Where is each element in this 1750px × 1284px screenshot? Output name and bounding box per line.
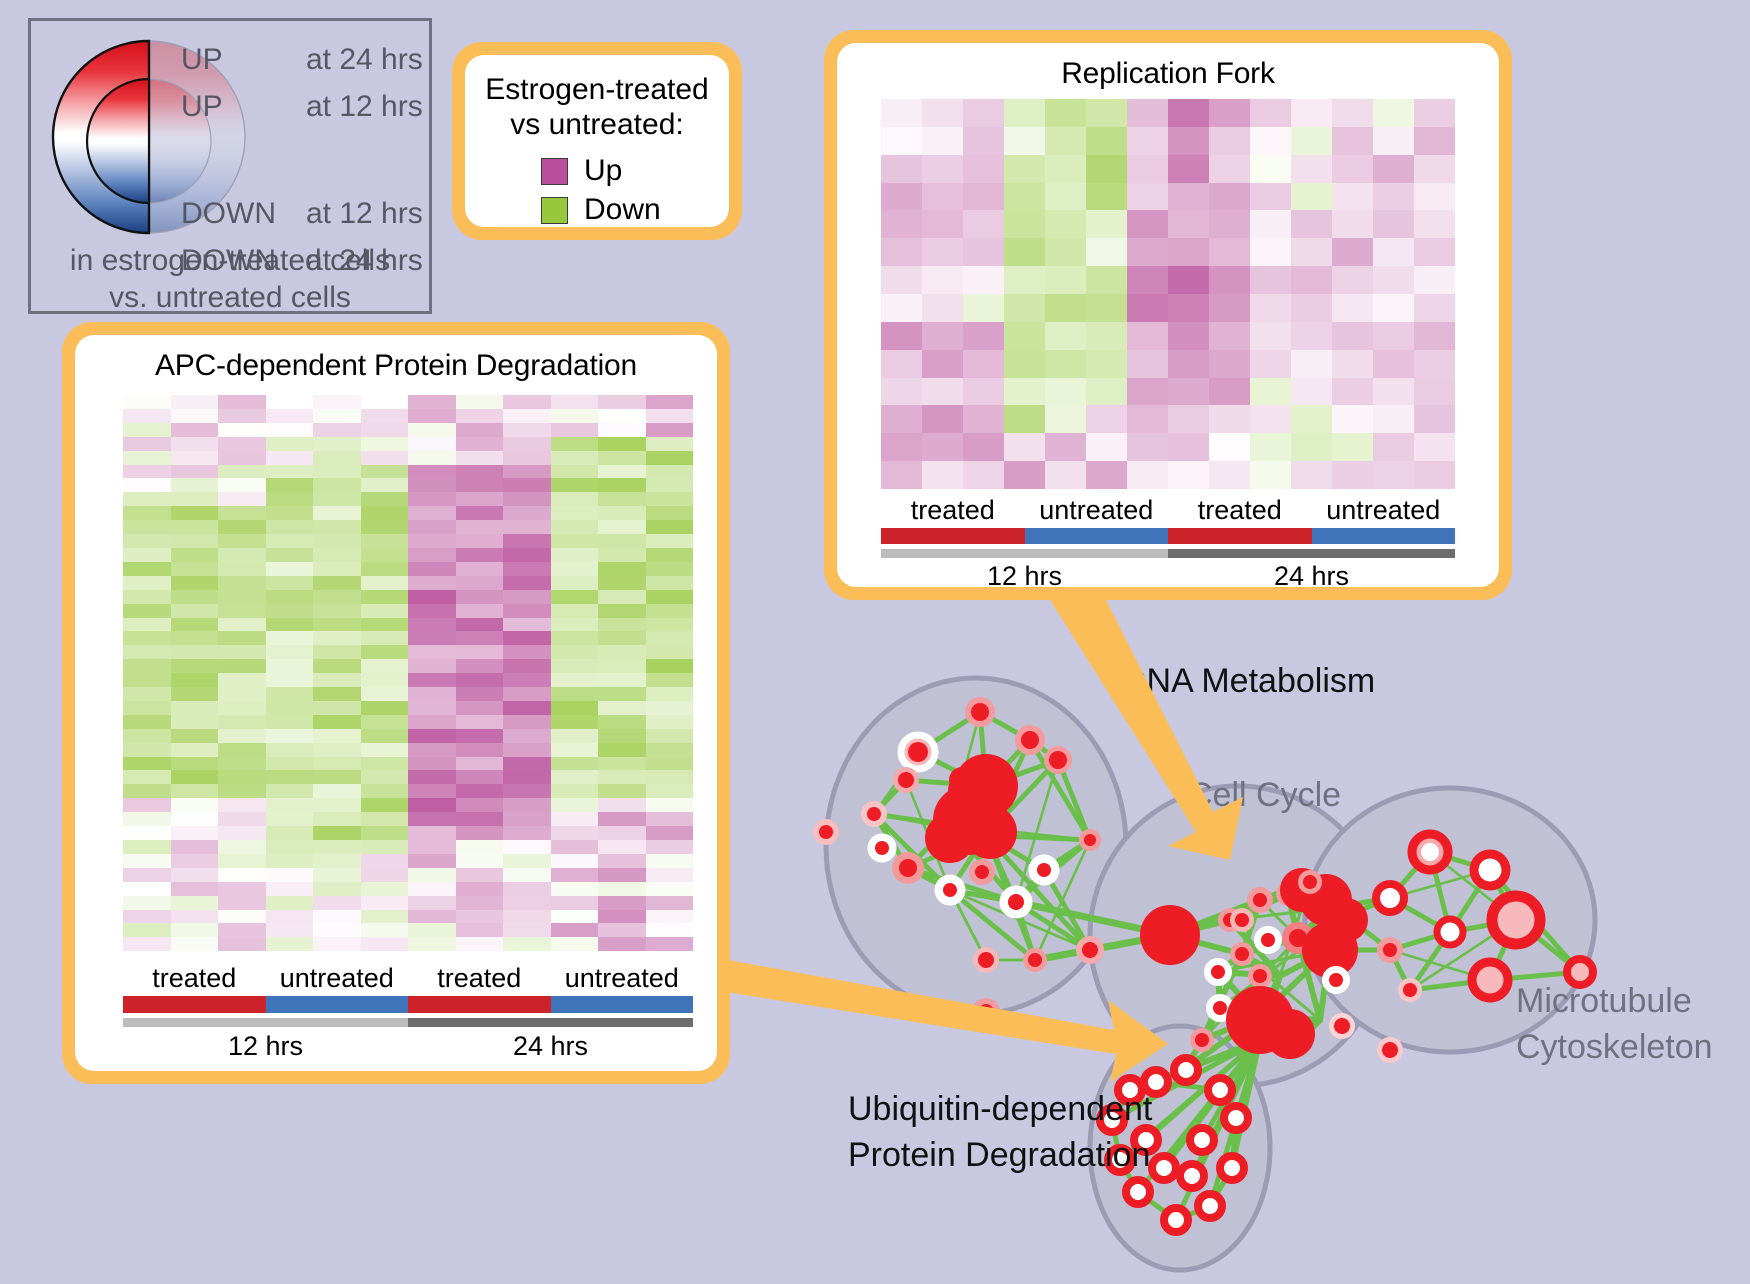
heatmap-cell (266, 520, 314, 534)
heatmap-cell (456, 631, 504, 645)
heatmap-cell (456, 896, 504, 910)
heatmap-cell (1045, 405, 1086, 433)
network-node (875, 841, 889, 855)
heatmap-cell (551, 423, 599, 437)
heatmap-row (123, 437, 693, 451)
heatmap-cell (313, 590, 361, 604)
heatmap-cell (646, 645, 694, 659)
heatmap-cell (266, 757, 314, 771)
heatmap-cell (218, 492, 266, 506)
time-color-bar (881, 549, 1168, 558)
heatmap-cell (266, 409, 314, 423)
apc-heatmap (123, 395, 693, 951)
heatmap-cell (503, 687, 551, 701)
heatmap-cell (361, 451, 409, 465)
heatmap-cell (408, 423, 456, 437)
heatmap-cell (266, 812, 314, 826)
heatmap-cell (218, 618, 266, 632)
network-node (1437, 919, 1463, 945)
heatmap-cell (1250, 350, 1291, 378)
heatmap-cell (1332, 155, 1373, 183)
heatmap-cell (503, 451, 551, 465)
heatmap-cell (1127, 127, 1168, 155)
heatmap-cell (551, 576, 599, 590)
heatmap-cell (456, 701, 504, 715)
heatmap-cell (1045, 461, 1086, 489)
heatmap-cell (408, 451, 456, 465)
heatmap-cell (646, 437, 694, 451)
heatmap-cell (922, 99, 963, 127)
heatmap-cell (1168, 266, 1209, 294)
heatmap-cell (646, 534, 694, 548)
heatmap-cell (313, 757, 361, 771)
heatmap-cell (1168, 405, 1209, 433)
heatmap-cell (551, 743, 599, 757)
heatmap-row (123, 826, 693, 840)
heatmap-cell (1414, 405, 1455, 433)
network-node (1180, 1164, 1204, 1188)
heatmap-cell (503, 645, 551, 659)
heatmap-cell (123, 659, 171, 673)
heatmap-cell (1086, 238, 1127, 266)
heatmap-cell (503, 478, 551, 492)
heatmap-cell (218, 645, 266, 659)
legend-item-up: Up (541, 152, 729, 191)
heatmap-cell (218, 687, 266, 701)
heatmap-cell (963, 238, 1004, 266)
heatmap-cell (1168, 127, 1209, 155)
heatmap-cell (361, 784, 409, 798)
heatmap-cell (963, 99, 1004, 127)
legend-item-down: Down (541, 191, 729, 227)
heatmap-cell (1332, 238, 1373, 266)
heatmap-cell (503, 896, 551, 910)
heatmap-cell (551, 896, 599, 910)
group-color-bar (123, 996, 266, 1013)
heatmap-cell (456, 534, 504, 548)
group-label: untreated (266, 963, 409, 994)
network-node (1021, 731, 1039, 749)
network-node (1211, 965, 1225, 979)
heatmap-cell (266, 770, 314, 784)
heatmap-cell (456, 687, 504, 701)
heatmap-cell (408, 576, 456, 590)
colormap-legend-box: UP at 24 hrs UP at 12 hrs DOWN at 12 hrs… (28, 18, 432, 314)
colormap-row-key: UP (181, 43, 306, 77)
heatmap-row (123, 465, 693, 479)
heatmap-row (123, 770, 693, 784)
heatmap-cell (503, 437, 551, 451)
colormap-caption-line1: in estrogen-treated cells (31, 243, 429, 280)
heatmap-cell (551, 701, 599, 715)
heatmap-cell (1004, 155, 1045, 183)
heatmap-cell (123, 520, 171, 534)
heatmap-cell (1127, 378, 1168, 406)
down-color-swatch (541, 197, 568, 224)
heatmap-cell (963, 461, 1004, 489)
heatmap-cell (503, 534, 551, 548)
heatmap-cell (1127, 433, 1168, 461)
heatmap-cell (123, 812, 171, 826)
heatmap-cell (123, 798, 171, 812)
heatmap-row (881, 433, 1455, 461)
heatmap-cell (456, 923, 504, 937)
heatmap-cell (881, 238, 922, 266)
group-label: treated (1168, 495, 1312, 526)
heatmap-cell (266, 937, 314, 951)
heatmap-cell (266, 423, 314, 437)
heatmap-cell (1209, 350, 1250, 378)
heatmap-cell (1414, 294, 1455, 322)
heatmap-cell (1127, 461, 1168, 489)
heatmap-cell (503, 715, 551, 729)
network-node-large (1265, 1009, 1315, 1059)
heatmap-cell (456, 659, 504, 673)
network-node (1329, 973, 1343, 987)
heatmap-row (123, 492, 693, 506)
heatmap-cell (598, 590, 646, 604)
heatmap-cell (1250, 266, 1291, 294)
network-node (1303, 875, 1317, 889)
heatmap-cell (171, 937, 219, 951)
time-label: 12 hrs (123, 1031, 408, 1062)
heatmap-cell (1414, 322, 1455, 350)
heatmap-cell (503, 673, 551, 687)
cluster-label-ubiquitin-line2: Protein Degradation (848, 1136, 1150, 1174)
network-node (1403, 983, 1417, 997)
heatmap-cell (963, 155, 1004, 183)
heatmap-cell (361, 937, 409, 951)
heatmap-cell (1373, 322, 1414, 350)
heatmap-cell (408, 409, 456, 423)
heatmap-cell (313, 715, 361, 729)
heatmap-cell (123, 923, 171, 937)
heatmap-cell (456, 868, 504, 882)
heatmap-cell (503, 659, 551, 673)
group-color-bars (123, 996, 693, 1013)
heatmap-cell (1209, 238, 1250, 266)
heatmap-cell (1209, 127, 1250, 155)
heatmap-cell (266, 882, 314, 896)
heatmap-cell (1086, 266, 1127, 294)
heatmap-cell (1332, 266, 1373, 294)
heatmap-cell (456, 409, 504, 423)
heatmap-cell (266, 437, 314, 451)
heatmap-cell (1373, 294, 1414, 322)
heatmap-cell (408, 562, 456, 576)
heatmap-cell (1004, 183, 1045, 211)
heatmap-cell (503, 631, 551, 645)
heatmap-cell (1291, 99, 1332, 127)
cluster-label-ubiquitin-line1: Ubiquitin-dependent (848, 1090, 1153, 1128)
heatmap-cell (1004, 210, 1045, 238)
heatmap-cell (123, 576, 171, 590)
heatmap-cell (1373, 461, 1414, 489)
network-node (1190, 1128, 1214, 1152)
heatmap-cell (503, 492, 551, 506)
heatmap-cell (551, 631, 599, 645)
heatmap-cell (503, 506, 551, 520)
heatmap-cell (218, 576, 266, 590)
heatmap-cell (1250, 294, 1291, 322)
network-node (975, 865, 989, 879)
heatmap-cell (218, 659, 266, 673)
heatmap-cell (456, 784, 504, 798)
network-node (1334, 1018, 1350, 1034)
heatmap-cell (646, 743, 694, 757)
heatmap-cell (361, 409, 409, 423)
legend-item-label: Up (584, 154, 622, 188)
heatmap-cell (1209, 266, 1250, 294)
heatmap-cell (1209, 210, 1250, 238)
colormap-row-when: at 24 hrs (306, 43, 423, 77)
group-color-bar (1168, 528, 1312, 544)
heatmap-cell (361, 701, 409, 715)
network-node (1235, 913, 1249, 927)
heatmap-cell (1209, 155, 1250, 183)
heatmap-cell (551, 604, 599, 618)
heatmap-cell (408, 506, 456, 520)
heatmap-cell (1332, 294, 1373, 322)
heatmap-cell (598, 451, 646, 465)
heatmap-cell (218, 854, 266, 868)
heatmap-cell (646, 631, 694, 645)
heatmap-cell (456, 743, 504, 757)
heatmap-cell (503, 604, 551, 618)
heatmap-cell (1373, 238, 1414, 266)
heatmap-cell (503, 576, 551, 590)
heatmap-cell (503, 910, 551, 924)
heatmap-cell (1373, 183, 1414, 211)
heatmap-cell (881, 210, 922, 238)
heatmap-cell (266, 659, 314, 673)
heatmap-cell (361, 729, 409, 743)
colormap-row: UP at 12 hrs (181, 90, 423, 137)
group-color-bar (1025, 528, 1169, 544)
heatmap-cell (361, 882, 409, 896)
heatmap-cell (456, 937, 504, 951)
heatmap-cell (456, 854, 504, 868)
heatmap-cell (646, 854, 694, 868)
heatmap-cell (551, 492, 599, 506)
heatmap-cell (171, 715, 219, 729)
network-node (1421, 843, 1439, 861)
heatmap-cell (1168, 378, 1209, 406)
heatmap-cell (922, 350, 963, 378)
heatmap-cell (1291, 405, 1332, 433)
heatmap-row (123, 715, 693, 729)
heatmap-cell (361, 896, 409, 910)
heatmap-cell (171, 478, 219, 492)
heatmap-cell (881, 266, 922, 294)
heatmap-row (881, 322, 1455, 350)
heatmap-row (123, 423, 693, 437)
heatmap-cell (1168, 294, 1209, 322)
heatmap-cell (123, 492, 171, 506)
heatmap-row (123, 673, 693, 687)
heatmap-cell (1250, 238, 1291, 266)
heatmap-cell (408, 770, 456, 784)
heatmap-cell (266, 784, 314, 798)
heatmap-cell (1004, 461, 1045, 489)
network-node (867, 807, 881, 821)
heatmap-cell (1086, 350, 1127, 378)
heatmap-cell (408, 437, 456, 451)
heatmap-cell (218, 826, 266, 840)
heatmap-cell (123, 478, 171, 492)
heatmap-cell (598, 854, 646, 868)
heatmap-cell (1250, 155, 1291, 183)
heatmap-cell (1127, 294, 1168, 322)
heatmap-cell (408, 868, 456, 882)
heatmap-cell (123, 604, 171, 618)
heatmap-cell (551, 923, 599, 937)
heatmap-cell (551, 826, 599, 840)
network-node (1224, 1106, 1248, 1130)
heatmap-cell (598, 770, 646, 784)
heatmap-cell (218, 743, 266, 757)
heatmap-cell (123, 631, 171, 645)
heatmap-cell (123, 910, 171, 924)
network-node (1474, 854, 1506, 886)
apc-title: APC-dependent Protein Degradation (75, 335, 717, 383)
network-node (1472, 962, 1508, 998)
heatmap-cell (313, 798, 361, 812)
heatmap-cell (218, 423, 266, 437)
heatmap-cell (1045, 433, 1086, 461)
heatmap-cell (361, 770, 409, 784)
heatmap-cell (551, 757, 599, 771)
heatmap-cell (313, 618, 361, 632)
apc-axis: treateduntreatedtreateduntreated 12 hrs2… (123, 963, 693, 1062)
heatmap-cell (171, 826, 219, 840)
heatmap-cell (266, 798, 314, 812)
heatmap-cell (503, 923, 551, 937)
heatmap-cell (456, 423, 504, 437)
heatmap-cell (1086, 127, 1127, 155)
legend-item-label: Down (584, 193, 661, 227)
heatmap-cell (266, 618, 314, 632)
heatmap-cell (313, 673, 361, 687)
heatmap-cell (408, 743, 456, 757)
heatmap-cell (171, 770, 219, 784)
heatmap-cell (881, 155, 922, 183)
network-node (1261, 933, 1275, 947)
heatmap-cell (1209, 433, 1250, 461)
heatmap-cell (1045, 155, 1086, 183)
heatmap-cell (1291, 127, 1332, 155)
group-label: treated (123, 963, 266, 994)
heatmap-cell (361, 798, 409, 812)
heatmap-cell (1004, 238, 1045, 266)
heatmap-cell (1004, 294, 1045, 322)
heatmap-cell (313, 784, 361, 798)
heatmap-cell (361, 506, 409, 520)
heatmap-cell (123, 743, 171, 757)
heatmap-cell (598, 937, 646, 951)
time-color-bar (123, 1018, 408, 1027)
heatmap-cell (1004, 405, 1045, 433)
heatmap-row (881, 350, 1455, 378)
heatmap-cell (551, 729, 599, 743)
heatmap-cell (1209, 461, 1250, 489)
heatmap-cell (551, 659, 599, 673)
heatmap-row (123, 868, 693, 882)
heatmap-cell (171, 631, 219, 645)
heatmap-cell (646, 798, 694, 812)
heatmap-cell (123, 854, 171, 868)
heatmap-cell (171, 840, 219, 854)
heatmap-cell (361, 618, 409, 632)
heatmap-cell (171, 868, 219, 882)
heatmap-cell (266, 604, 314, 618)
network-node (971, 703, 989, 721)
heatmap-cell (408, 590, 456, 604)
heatmap-cell (1291, 155, 1332, 183)
heatmap-row (123, 784, 693, 798)
heatmap-cell (646, 868, 694, 882)
network-node (899, 859, 917, 877)
colormap-row-key: UP (181, 90, 306, 124)
network-node (978, 1004, 994, 1020)
heatmap-cell (551, 548, 599, 562)
heatmap-cell (408, 673, 456, 687)
heatmap-cell (266, 492, 314, 506)
heatmap-cell (1250, 322, 1291, 350)
heatmap-cell (123, 687, 171, 701)
heatmap-cell (408, 910, 456, 924)
heatmap-cell (503, 757, 551, 771)
heatmap-cell (963, 294, 1004, 322)
heatmap-cell (1086, 99, 1127, 127)
heatmap-cell (1086, 378, 1127, 406)
heatmap-cell (646, 910, 694, 924)
apc-panel: APC-dependent Protein Degradation treate… (62, 322, 730, 1084)
heatmap-cell (881, 322, 922, 350)
heatmap-cell (598, 840, 646, 854)
network-node (819, 825, 833, 839)
heatmap-cell (408, 604, 456, 618)
network-node (1164, 1208, 1188, 1232)
heatmap-cell (503, 812, 551, 826)
heatmap-cell (313, 534, 361, 548)
heatmap-cell (1168, 238, 1209, 266)
heatmap-cell (551, 937, 599, 951)
heatmap-cell (266, 590, 314, 604)
legend-title-line2: vs untreated: (465, 107, 729, 142)
heatmap-cell (361, 715, 409, 729)
heatmap-row (123, 882, 693, 896)
heatmap-cell (1045, 350, 1086, 378)
network-node (1383, 943, 1397, 957)
heatmap-cell (456, 618, 504, 632)
heatmap-cell (408, 729, 456, 743)
heatmap-cell (218, 437, 266, 451)
heatmap-cell (1373, 350, 1414, 378)
heatmap-cell (1250, 183, 1291, 211)
heatmap-row (123, 576, 693, 590)
heatmap-cell (598, 757, 646, 771)
heatmap-cell (456, 437, 504, 451)
heatmap-cell (361, 743, 409, 757)
heatmap-cell (123, 715, 171, 729)
group-labels: treateduntreatedtreateduntreated (881, 495, 1455, 526)
heatmap-row (881, 294, 1455, 322)
heatmap-cell (503, 409, 551, 423)
heatmap-cell (1045, 99, 1086, 127)
heatmap-cell (456, 451, 504, 465)
heatmap-cell (551, 506, 599, 520)
